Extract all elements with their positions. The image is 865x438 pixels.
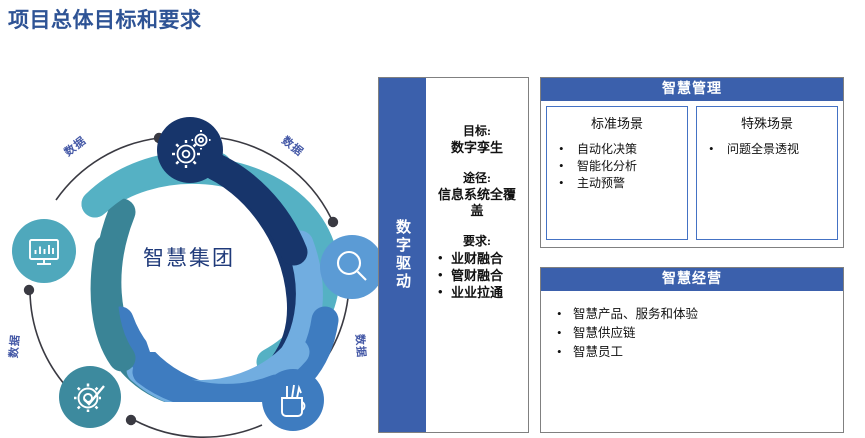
page-title: 项目总体目标和要求 <box>8 4 202 34</box>
standard-scenario-title: 标准场景 <box>551 113 683 132</box>
special-scenario-subcard: 特殊场景 问题全景透视 <box>696 106 838 240</box>
knot-center-opening <box>128 248 252 352</box>
list-item: 智能化分析 <box>555 158 683 175</box>
list-item: 主动预警 <box>555 175 683 192</box>
smart-operation-body: 智慧产品、服务和体验 智慧供应链 智慧员工 <box>541 291 843 430</box>
smart-operation-header: 智慧经营 <box>541 268 843 291</box>
list-item: 问题全景透视 <box>705 141 833 158</box>
node-monitor-chart <box>12 219 76 283</box>
requirement-heading: 要求: <box>432 232 522 249</box>
path-heading: 途径: <box>432 169 522 186</box>
driver-detail: 目标: 数字孪生 途径: 信息系统全覆盖 要求: 业财融合 管财融合 业业拉通 <box>426 78 528 432</box>
framework-panels: 数字驱动 目标: 数字孪生 途径: 信息系统全覆盖 要求: 业财融合 管财融合 … <box>378 77 844 433</box>
special-scenario-list: 问题全景透视 <box>701 141 833 158</box>
driver-panel: 数字驱动 目标: 数字孪生 途径: 信息系统全覆盖 要求: 业财融合 管财融合 … <box>378 77 529 433</box>
requirement-list: 业财融合 管财融合 业业拉通 <box>432 250 522 301</box>
smart-management-card: 智慧管理 标准场景 自动化决策 智能化分析 主动预警 特殊场景 问题全景透视 <box>540 77 844 248</box>
node-gears <box>157 117 223 183</box>
list-item: 业财融合 <box>438 250 522 267</box>
goal-heading: 目标: <box>432 122 522 139</box>
smart-management-body: 标准场景 自动化决策 智能化分析 主动预警 特殊场景 问题全景透视 <box>541 101 843 245</box>
arc-label-data-bottom-right: 数据 <box>352 333 370 358</box>
goal-value: 数字孪生 <box>432 140 522 155</box>
standard-scenario-list: 自动化决策 智能化分析 主动预警 <box>551 141 683 192</box>
smart-operation-list: 智慧产品、服务和体验 智慧供应链 智慧员工 <box>551 305 833 362</box>
list-item: 业业拉通 <box>438 284 522 301</box>
path-value: 信息系统全覆盖 <box>432 187 522 218</box>
driver-spine-label: 数字驱动 <box>392 219 413 291</box>
infographic-diagram: 数据 数据 数据 数据 智慧集团 <box>0 52 378 438</box>
list-item: 智慧产品、服务和体验 <box>555 305 833 324</box>
standard-scenario-subcard: 标准场景 自动化决策 智能化分析 主动预警 <box>546 106 688 240</box>
driver-spine: 数字驱动 <box>379 78 426 432</box>
special-scenario-title: 特殊场景 <box>701 113 833 132</box>
list-item: 智慧员工 <box>555 343 833 362</box>
node-pen-holder <box>262 369 324 431</box>
arc-label-data-bottom-left: 数据 <box>5 333 23 358</box>
node-gear-check <box>59 366 121 428</box>
smart-management-header: 智慧管理 <box>541 78 843 101</box>
smart-operation-card: 智慧经营 智慧产品、服务和体验 智慧供应链 智慧员工 <box>540 267 844 433</box>
list-item: 管财融合 <box>438 267 522 284</box>
list-item: 自动化决策 <box>555 141 683 158</box>
list-item: 智慧供应链 <box>555 324 833 343</box>
diagram-svg <box>0 52 378 438</box>
